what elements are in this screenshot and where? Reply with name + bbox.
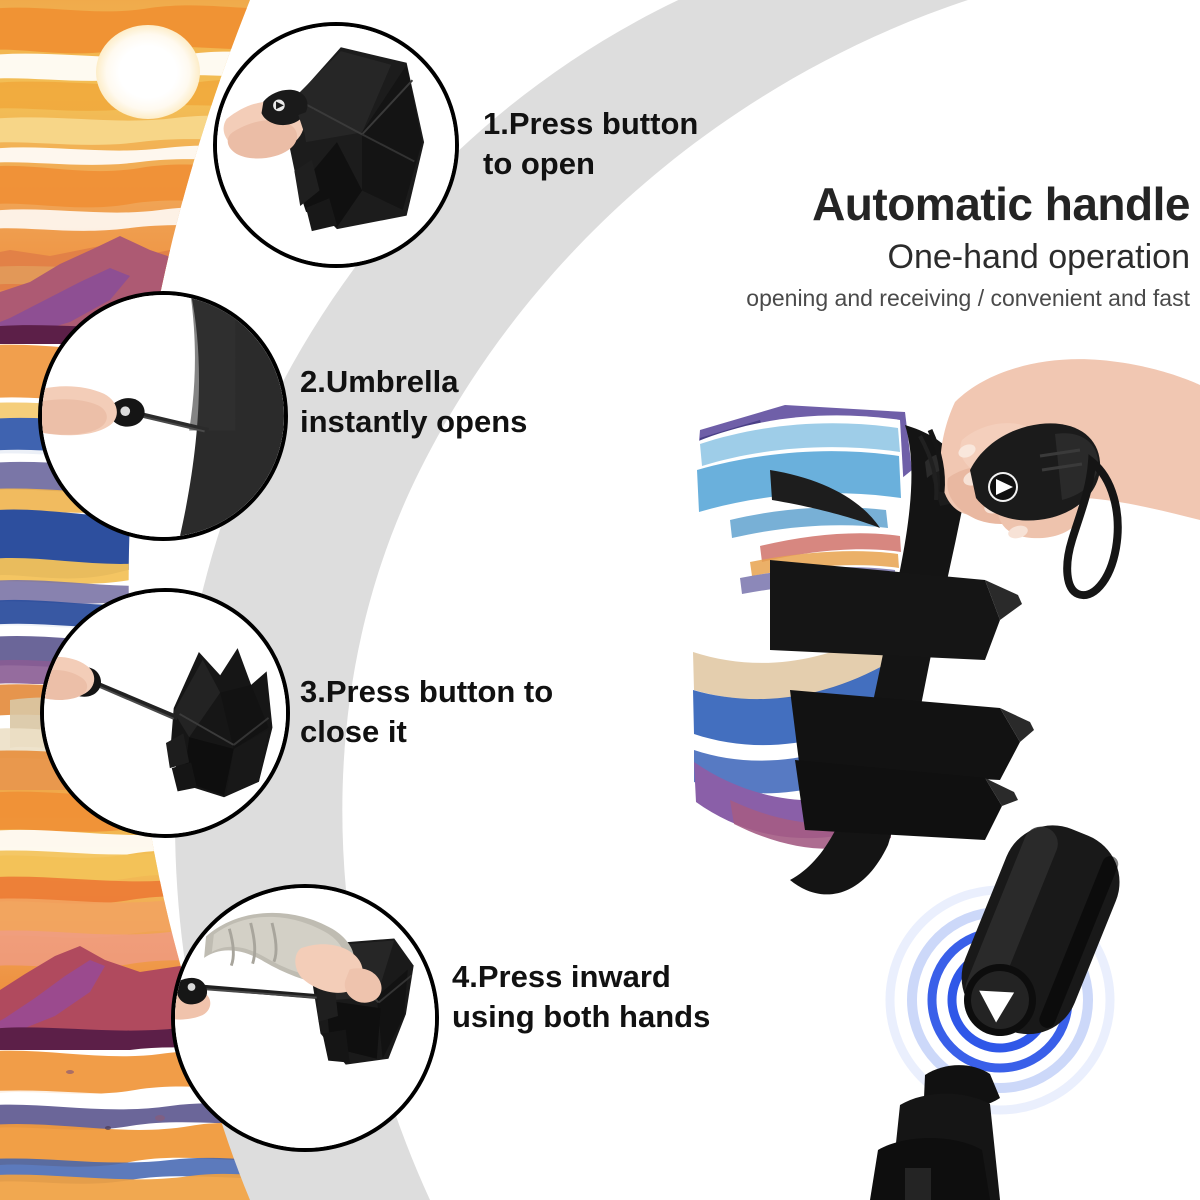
step-4-label: 4.Press inward using both hands [452,957,710,1036]
step-2-label: 2.Umbrella instantly opens [300,362,527,441]
headline-block: Automatic handle One-hand operation open… [660,180,1190,314]
page-title: Automatic handle [660,180,1190,230]
step-3-photo [40,588,290,838]
step-4-photo [171,884,439,1152]
step-2-photo [38,291,288,541]
page-subtitle: One-hand operation [660,236,1190,279]
page-tagline: opening and receiving / convenient and f… [660,284,1190,314]
step-3-label: 3.Press button to close it [300,672,553,751]
step-1-photo [213,22,459,268]
infographic-canvas: Automatic handle One-hand operation open… [0,0,1200,1200]
step-1-label: 1.Press button to open [483,104,698,183]
